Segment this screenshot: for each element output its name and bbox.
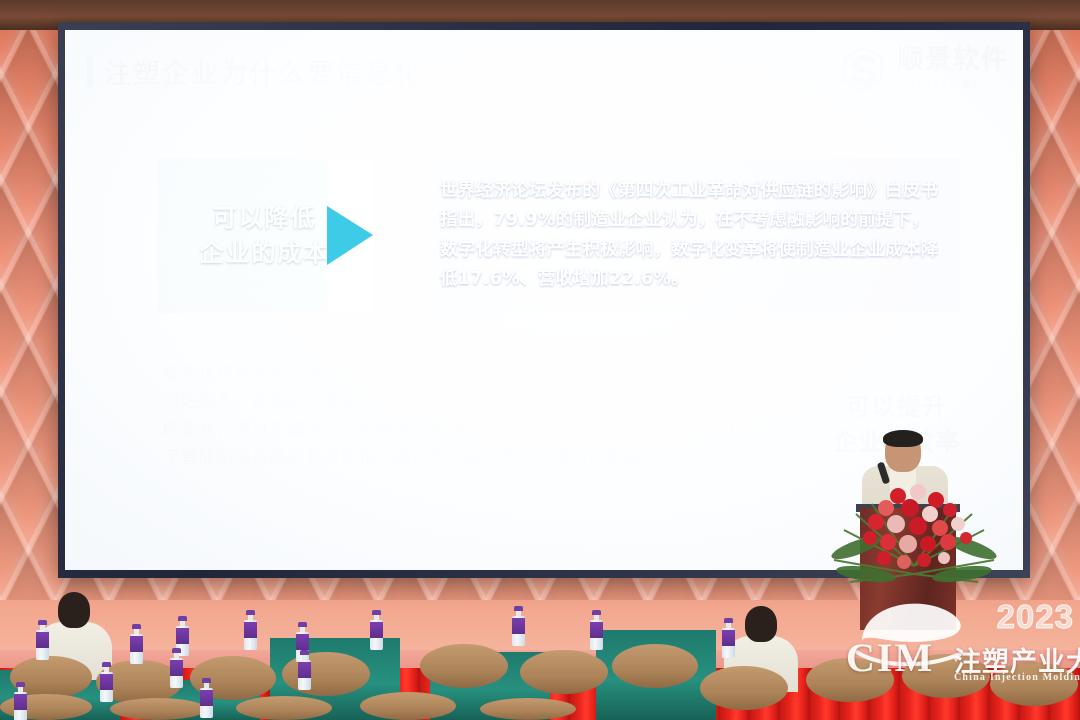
right-chevron-arrow-icon bbox=[327, 158, 373, 313]
banner-row: 可以降低 企业的成本 世界经济论坛发布的《第四次工业革命对供应链的影响》白皮书指… bbox=[157, 158, 960, 313]
chair bbox=[990, 662, 1078, 706]
centersoft-s-hexagon-logo-icon bbox=[838, 44, 888, 94]
bottle-label bbox=[296, 634, 309, 650]
banner-statement-box: 世界经济论坛发布的《第四次工业革命对供应链的影响》白皮书指出，79.9%的制造业… bbox=[424, 158, 960, 313]
bottle-label bbox=[590, 622, 603, 638]
chair bbox=[420, 644, 508, 688]
water-bottle bbox=[36, 620, 49, 660]
brand-logo: 顺景软件 CenterS ft bbox=[838, 44, 1009, 94]
conference-hall-scene: 注塑企业为什么要信息化 顺景软件 CenterS ft bbox=[0, 0, 1080, 720]
banner-statement-text: 世界经济论坛发布的《第四次工业革命对供应链的影响》白皮书指出，79.9%的制造业… bbox=[424, 177, 960, 293]
water-bottle bbox=[512, 606, 525, 646]
chair bbox=[902, 654, 990, 698]
bottle-label bbox=[176, 628, 189, 644]
chair bbox=[520, 650, 608, 694]
logo-en-prefix: CenterS bbox=[897, 76, 959, 91]
logo-en-label: CenterS ft bbox=[897, 76, 1009, 91]
chair bbox=[360, 692, 456, 720]
banner-left-label: 可以降低 企业的成本 bbox=[200, 201, 330, 269]
chair bbox=[110, 698, 206, 720]
logo-en-suffix: ft bbox=[972, 76, 985, 91]
bottle-label bbox=[512, 618, 525, 634]
water-bottle bbox=[370, 610, 383, 650]
slide-header: 注塑企业为什么要信息化 bbox=[87, 52, 423, 91]
water-bottle bbox=[590, 610, 603, 650]
chair bbox=[480, 698, 576, 720]
bottle-label bbox=[100, 674, 113, 690]
water-bottle bbox=[130, 624, 143, 664]
audience-area bbox=[0, 560, 1080, 720]
water-bottle bbox=[170, 648, 183, 688]
body-top-divider bbox=[160, 348, 815, 349]
page-title: 注塑企业为什么要信息化 bbox=[104, 52, 423, 91]
bottle-label bbox=[130, 636, 143, 652]
banner-gap bbox=[372, 158, 424, 313]
right-callout-line1: 可以提升 bbox=[787, 390, 1007, 425]
bottle-label bbox=[722, 630, 735, 646]
speaker-hair bbox=[883, 430, 923, 447]
water-bottle bbox=[14, 682, 27, 720]
banner-left-callout: 可以降低 企业的成本 bbox=[157, 158, 372, 313]
logo-dot-icon bbox=[961, 79, 970, 88]
bottle-label bbox=[200, 690, 213, 706]
bottle-label bbox=[14, 694, 27, 710]
bottle-label bbox=[170, 660, 183, 676]
logo-cn-label: 顺景软件 bbox=[897, 47, 1009, 73]
chair bbox=[612, 644, 698, 688]
bottle-label bbox=[36, 632, 49, 648]
banner-left-label-line1: 可以降低 bbox=[200, 201, 330, 235]
body-paragraph: 数字化信息和知识具有可共享、重复使用、低成本复制等特点，对其使用和改进越多，创造… bbox=[163, 360, 763, 472]
water-bottle bbox=[100, 662, 113, 702]
bottle-label bbox=[244, 622, 257, 638]
water-bottle bbox=[298, 650, 311, 690]
audience-head bbox=[745, 606, 777, 642]
title-accent-bar bbox=[87, 57, 93, 87]
bottle-label bbox=[298, 662, 311, 678]
chair bbox=[700, 666, 788, 710]
logo-text: 顺景软件 CenterS ft bbox=[897, 47, 1009, 91]
body-vertical-divider bbox=[768, 350, 769, 538]
chair bbox=[236, 696, 332, 720]
water-bottle bbox=[244, 610, 257, 650]
audience-head bbox=[58, 592, 90, 628]
bottle-label bbox=[370, 622, 383, 638]
water-bottle bbox=[200, 678, 213, 718]
water-bottle bbox=[722, 618, 735, 658]
banner-left-label-line2: 企业的成本 bbox=[200, 236, 330, 270]
chair bbox=[806, 658, 894, 702]
